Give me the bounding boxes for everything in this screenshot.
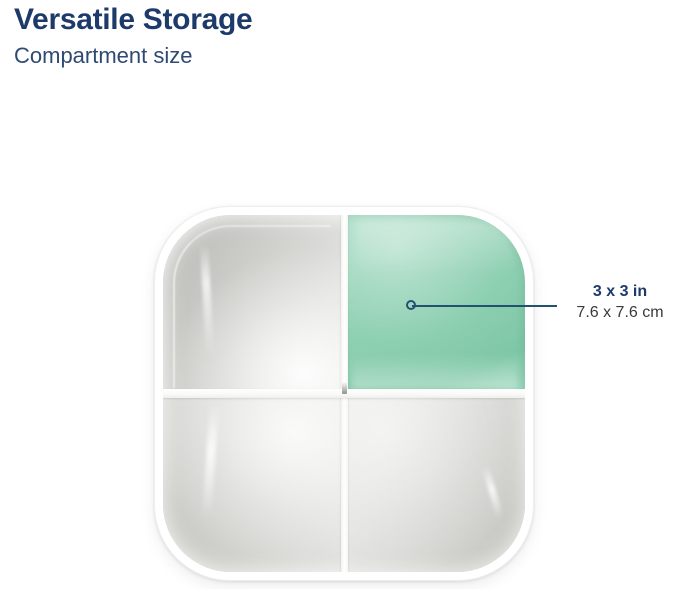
- callout-label: 3 x 3 in 7.6 x 7.6 cm: [562, 282, 678, 323]
- callout-leader-line: [412, 305, 557, 307]
- page-subtitle: Compartment size: [14, 42, 514, 70]
- page-title: Versatile Storage: [14, 2, 514, 38]
- compartment-bottom-left: [163, 394, 344, 573]
- divider-center-seam: [342, 382, 347, 394]
- compartment-top-left: [163, 215, 344, 394]
- header: Versatile Storage Compartment size: [14, 2, 514, 70]
- product-image: [150, 200, 540, 589]
- compartment-top-right-lower-highlight: [351, 354, 518, 390]
- tray-cavity: [163, 215, 525, 572]
- compartment-top-left-lip: [173, 225, 331, 388]
- callout-marker-icon: [406, 300, 416, 310]
- compartment-bottom-right: [344, 394, 525, 573]
- callout-dimension-imperial: 3 x 3 in: [562, 282, 678, 302]
- storage-tray: [154, 206, 534, 581]
- callout-dimension-metric: 7.6 x 7.6 cm: [562, 302, 678, 323]
- compartment-bottom-left-surface: [163, 394, 344, 573]
- compartment-top-right-highlight: [355, 219, 514, 273]
- compartment-bottom-right-surface: [344, 394, 525, 573]
